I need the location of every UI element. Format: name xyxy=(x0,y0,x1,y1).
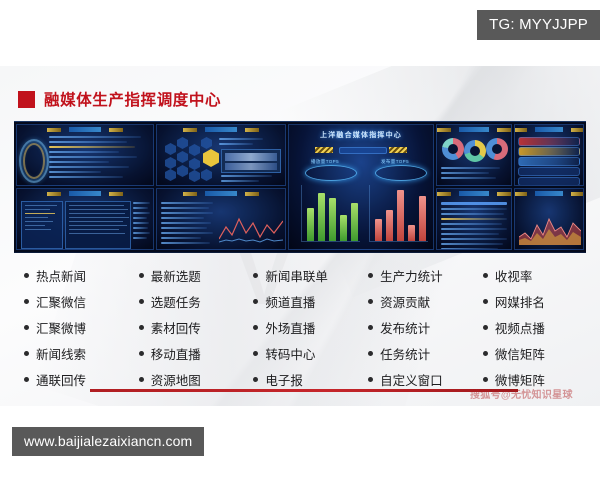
feature-item[interactable]: 收视率 xyxy=(483,262,580,288)
feature-item[interactable]: 外场直播 xyxy=(253,314,368,340)
feature-label: 发布统计 xyxy=(380,318,430,337)
photo-pane-topleft xyxy=(16,124,154,186)
feature-item[interactable]: 新闻线索 xyxy=(24,340,139,366)
pane-text-rows xyxy=(219,138,282,148)
feature-label: 热点新闻 xyxy=(36,266,86,285)
feature-label: 资源地图 xyxy=(151,370,201,389)
feature-column-4: 生产力统计 资源贡献 发布统计 任务统计 自定义窗口 xyxy=(368,262,483,392)
feature-item[interactable]: 资源贡献 xyxy=(368,288,483,314)
photo-pane-bottomright-table xyxy=(436,188,512,250)
feature-column-1: 热点新闻 汇聚微信 汇聚微博 新闻线索 通联回传 xyxy=(24,262,139,392)
bullet-icon xyxy=(253,377,258,382)
glow-ellipse-right xyxy=(375,165,427,181)
pie-chart-3 xyxy=(486,138,508,160)
feature-item[interactable]: 移动直播 xyxy=(139,340,254,366)
bar-chart-right xyxy=(375,187,426,241)
matrix-block xyxy=(65,201,131,249)
photo-pane-bottommid xyxy=(156,188,286,250)
feature-item[interactable]: 频道直播 xyxy=(253,288,368,314)
bullet-icon xyxy=(139,377,144,382)
source-watermark: 搜狐号@无忧知识星球 xyxy=(470,386,573,401)
photo-pane-topmid xyxy=(156,124,286,186)
pane-header-decoration xyxy=(157,126,285,133)
photo-center-main-screen: 上洋融合媒体指挥中心 播放量TOP5 发布量TOP5 xyxy=(288,124,434,250)
feature-label: 转码中心 xyxy=(265,344,315,363)
pane-header-decoration xyxy=(515,190,583,197)
bullet-icon xyxy=(24,377,29,382)
feature-item[interactable]: 选题任务 xyxy=(139,288,254,314)
title-accent-square xyxy=(18,91,35,108)
bottom-red-rule xyxy=(90,389,518,392)
pie-chart-2 xyxy=(464,140,486,162)
bullet-icon xyxy=(483,351,488,356)
bullet-icon xyxy=(139,351,144,356)
bullet-icon xyxy=(253,325,258,330)
pie-chart-1 xyxy=(442,138,464,160)
pane-header-decoration xyxy=(157,190,285,197)
feature-label: 生产力统计 xyxy=(380,266,443,285)
pane-header-decoration xyxy=(17,126,153,133)
center-subtitle-pill xyxy=(339,147,387,154)
bullet-icon xyxy=(24,299,29,304)
photo-pane-topright-donuts xyxy=(436,124,512,186)
feature-label: 资源贡献 xyxy=(380,292,430,311)
feature-item[interactable]: 视频点播 xyxy=(483,314,580,340)
bullet-icon xyxy=(24,351,29,356)
pane-text-rows xyxy=(441,167,507,182)
feature-label: 最新选题 xyxy=(151,266,201,285)
pane-text-rows xyxy=(221,175,282,185)
photo-pane-bottomright-area xyxy=(514,188,584,250)
bullet-icon xyxy=(368,299,373,304)
ranked-list-item xyxy=(518,167,580,176)
photo-pane-topright-list xyxy=(514,124,584,186)
center-screen-title: 上洋融合媒体指挥中心 xyxy=(289,130,433,140)
bullet-icon xyxy=(253,351,258,356)
feature-item[interactable]: 汇聚微信 xyxy=(24,288,139,314)
feature-column-2: 最新选题 选题任务 素材回传 移动直播 资源地图 xyxy=(139,262,254,392)
table-rows xyxy=(441,202,507,250)
bullet-icon xyxy=(24,325,29,330)
bullet-icon xyxy=(368,273,373,278)
bullet-icon xyxy=(253,299,258,304)
feature-item[interactable]: 任务统计 xyxy=(368,340,483,366)
feature-column-3: 新闻串联单 频道直播 外场直播 转码中心 电子报 xyxy=(253,262,368,392)
feature-label: 自定义窗口 xyxy=(380,370,443,389)
feature-label: 汇聚微信 xyxy=(36,292,86,311)
feature-label: 选题任务 xyxy=(151,292,201,311)
ranked-list-item xyxy=(518,137,580,146)
bullet-icon xyxy=(483,377,488,382)
feature-item[interactable]: 热点新闻 xyxy=(24,262,139,288)
pane-text-rows xyxy=(161,202,215,247)
pane-header-decoration xyxy=(17,190,153,197)
feature-item[interactable]: 汇聚微博 xyxy=(24,314,139,340)
bullet-icon xyxy=(139,299,144,304)
bullet-icon xyxy=(368,325,373,330)
feature-list: 热点新闻 汇聚微信 汇聚微博 新闻线索 通联回传 最新选题 选题任务 素材回传 … xyxy=(24,262,580,392)
ranked-list-item xyxy=(518,177,580,186)
feature-item[interactable]: 新闻串联单 xyxy=(253,262,368,288)
feature-column-5: 收视率 网媒排名 视频点播 微信矩阵 微博矩阵 xyxy=(483,262,580,392)
feature-item[interactable]: 生产力统计 xyxy=(368,262,483,288)
feature-label: 素材回传 xyxy=(151,318,201,337)
page-title: 融媒体生产指挥调度中心 xyxy=(44,88,221,110)
bar-chart-left xyxy=(307,187,358,241)
site-url-badge: www.baijialezaixiancn.com xyxy=(12,427,204,456)
feature-label: 频道直播 xyxy=(265,292,315,311)
info-block xyxy=(21,201,63,249)
feature-item[interactable]: 微信矩阵 xyxy=(483,340,580,366)
video-thumbnails xyxy=(221,149,281,173)
feature-label: 收视率 xyxy=(495,266,533,285)
photo-pane-bottomleft xyxy=(16,188,154,250)
bullet-icon xyxy=(139,325,144,330)
feature-item[interactable]: 转码中心 xyxy=(253,340,368,366)
feature-item[interactable]: 网媒排名 xyxy=(483,288,580,314)
bullet-icon xyxy=(483,273,488,278)
feature-item[interactable]: 最新选题 xyxy=(139,262,254,288)
command-center-photo: 上洋融合媒体指挥中心 播放量TOP5 发布量TOP5 xyxy=(14,121,586,253)
pane-header-decoration xyxy=(515,126,583,133)
ranked-list-item xyxy=(518,147,580,156)
bullet-icon xyxy=(368,377,373,382)
telegram-handle-badge: TG: MYYJJPP xyxy=(477,10,600,40)
bullet-icon xyxy=(483,299,488,304)
ranked-list-item xyxy=(518,157,580,166)
feature-label: 通联回传 xyxy=(36,370,86,389)
feature-label: 电子报 xyxy=(265,370,303,389)
pane-header-decoration xyxy=(437,190,511,197)
bullet-icon xyxy=(253,273,258,278)
feature-label: 外场直播 xyxy=(265,318,315,337)
feature-item[interactable]: 发布统计 xyxy=(368,314,483,340)
area-chart-graphic xyxy=(519,207,581,245)
pane-text-rows xyxy=(49,136,149,181)
pane-header-decoration xyxy=(437,126,511,133)
slide-title-row: 融媒体生产指挥调度中心 xyxy=(18,88,221,110)
feature-label: 汇聚微博 xyxy=(36,318,86,337)
pane-text-rows xyxy=(133,202,150,242)
feature-label: 移动直播 xyxy=(151,344,201,363)
slide-canvas: V 融媒体生产指挥调度中心 xyxy=(0,66,600,406)
feature-item[interactable]: 素材回传 xyxy=(139,314,254,340)
feature-label: 新闻串联单 xyxy=(265,266,328,285)
feature-label: 视频点播 xyxy=(495,318,545,337)
feature-label: 网媒排名 xyxy=(495,292,545,311)
bullet-icon xyxy=(483,325,488,330)
bullet-icon xyxy=(24,273,29,278)
feature-label: 微信矩阵 xyxy=(495,344,545,363)
ring-graphic-inner xyxy=(23,143,45,179)
bullet-icon xyxy=(368,351,373,356)
line-chart-graphic xyxy=(219,213,283,243)
bullet-icon xyxy=(139,273,144,278)
feature-label: 任务统计 xyxy=(380,344,430,363)
glow-ellipse-left xyxy=(305,165,357,181)
feature-label: 新闻线索 xyxy=(36,344,86,363)
pane-caption xyxy=(237,201,239,206)
